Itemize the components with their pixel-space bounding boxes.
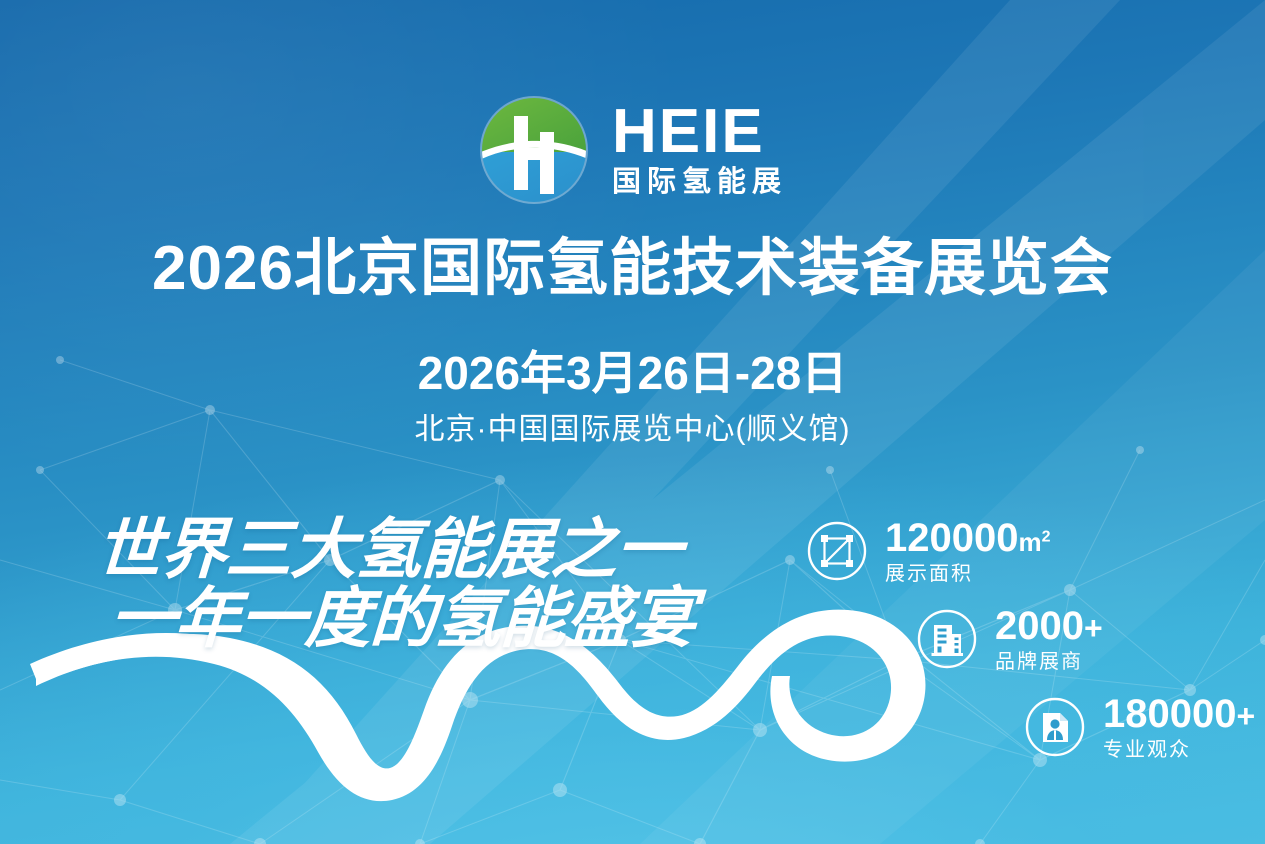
stat-unit-exponent: 2 <box>1042 528 1051 545</box>
stat-label: 专业观众 <box>1103 740 1255 760</box>
stat-exhibition-area: 120000m2 展示面积 <box>806 518 1265 584</box>
stat-value: 2000+ <box>995 606 1103 646</box>
stat-value: 180000+ <box>1103 694 1255 734</box>
stat-suffix: + <box>1236 698 1255 734</box>
event-poster: HEIE 国际氢能展 2026北京国际氢能技术装备展览会 2026年3月26日-… <box>0 0 1265 844</box>
slogan-line-1: 世界三大氢能展之一 <box>94 516 697 583</box>
heie-hydrogen-globe-logo-icon <box>478 94 590 206</box>
stat-suffix: + <box>1084 610 1103 646</box>
stat-number: 120000 <box>885 516 1018 560</box>
stat-professional-visitors: 180000+ 专业观众 <box>1024 694 1265 760</box>
stat-label: 展示面积 <box>885 564 1051 584</box>
stat-unit: m2 <box>1018 527 1050 557</box>
area-measure-icon <box>806 520 868 582</box>
event-title: 2026北京国际氢能技术装备展览会 <box>0 236 1265 303</box>
brand-logo: HEIE 国际氢能展 <box>0 94 1265 206</box>
visitor-badge-icon <box>1024 696 1086 758</box>
event-slogan: 世界三大氢能展之一 一年一度的氢能盛宴 <box>96 516 695 653</box>
logo-name-en: HEIE <box>612 103 765 162</box>
event-stats: 120000m2 展示面积 <box>806 518 1265 782</box>
event-venue: 北京·中国国际展览中心(顺义馆) <box>0 412 1265 448</box>
event-date: 2026年3月26日-28日 <box>0 349 1265 399</box>
stat-number: 180000 <box>1103 692 1236 736</box>
stat-number: 2000 <box>995 604 1084 648</box>
stat-label: 品牌展商 <box>995 652 1103 672</box>
building-icon <box>916 608 978 670</box>
stat-value: 120000m2 <box>885 518 1051 558</box>
slogan-line-2: 一年一度的氢能盛宴 <box>108 585 697 652</box>
logo-name-cn: 国际氢能展 <box>612 168 787 197</box>
stat-brand-exhibitors: 2000+ 品牌展商 <box>916 606 1265 672</box>
